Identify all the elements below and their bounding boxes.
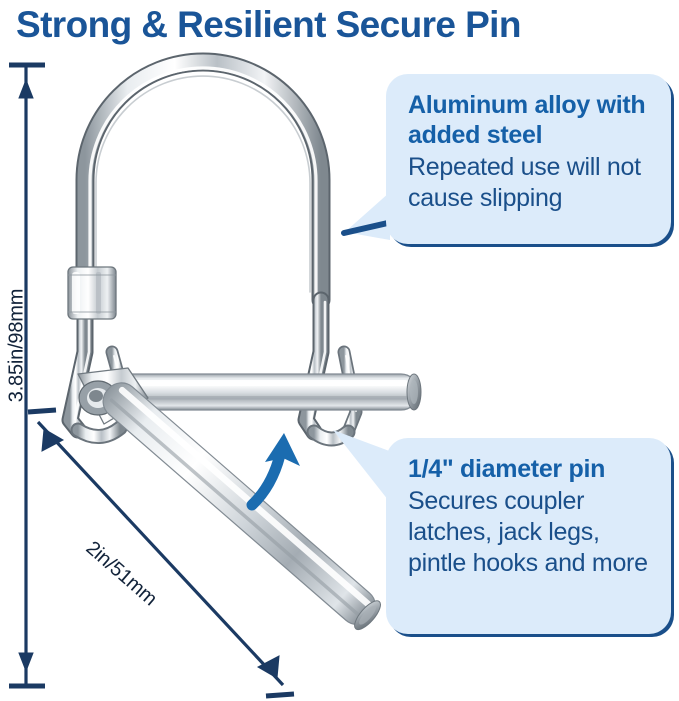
callout-diameter-pin: 1/4" diameter pin Secures coupler latche… — [386, 438, 671, 634]
dimension-label-height: 3.85in/98mm — [6, 281, 29, 411]
callout-aluminum-alloy: Aluminum alloy with added steel Repeated… — [386, 74, 671, 244]
callout-body: Repeated use will not cause slipping — [408, 152, 653, 214]
callout-heading: Aluminum alloy with added steel — [408, 90, 653, 150]
infographic-canvas: Strong & Resilient Secure Pin — [0, 0, 679, 701]
wire-right-leg — [306, 300, 356, 439]
callout-body: Secures coupler latches, jack legs, pint… — [408, 486, 653, 579]
callout-heading: 1/4" diameter pin — [408, 454, 653, 484]
wire-bail-loop — [85, 62, 321, 300]
retaining-collar — [68, 267, 116, 319]
rotation-arrow-icon — [252, 433, 300, 505]
